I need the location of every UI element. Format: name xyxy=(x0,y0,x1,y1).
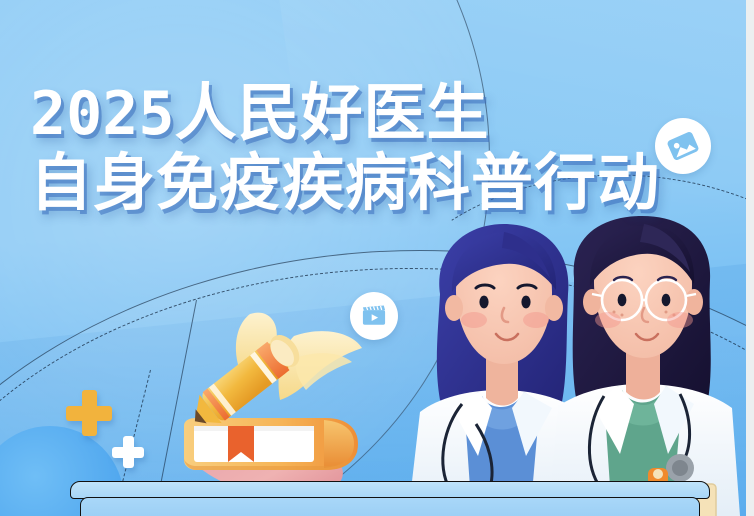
desk-front-panel xyxy=(80,497,700,516)
poster-title: 2025人民好医生 自身免疫疾病科普行动 xyxy=(30,82,660,217)
image-icon xyxy=(661,124,706,169)
doctor-right xyxy=(548,216,740,516)
video-badge[interactable] xyxy=(350,292,398,340)
title-line-1-text: 人民好医生 xyxy=(175,79,490,148)
desk-counter xyxy=(70,481,710,516)
video-clapperboard-icon xyxy=(360,302,388,330)
plus-white-decoration xyxy=(112,436,144,468)
photo-badge[interactable] xyxy=(655,118,711,174)
title-line-2: 自身免疫疾病科普行动 xyxy=(30,152,660,216)
poster-root: 2025人民好医生 自身免疫疾病科普行动 xyxy=(0,0,754,516)
poster-canvas: 2025人民好医生 自身免疫疾病科普行动 xyxy=(0,0,746,516)
title-line-1: 2025人民好医生 xyxy=(30,82,660,146)
plus-orange-decoration xyxy=(66,390,112,436)
title-year: 2025 xyxy=(30,79,175,149)
right-edge-strip xyxy=(746,0,754,516)
doctors-illustration xyxy=(392,216,746,516)
